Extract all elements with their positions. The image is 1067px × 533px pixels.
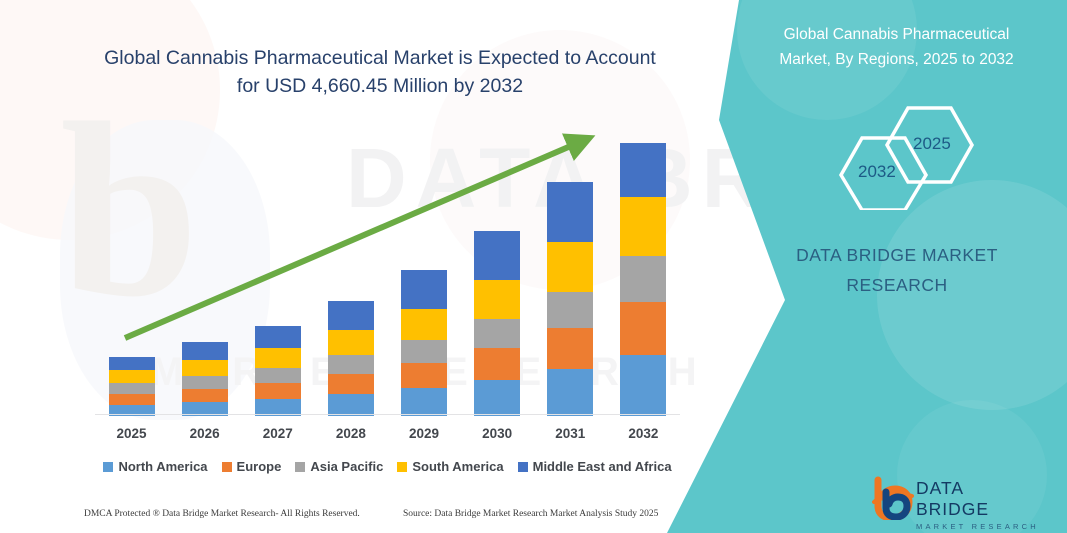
bar-segment-europe [182,389,228,402]
bar-segment-south-america [255,348,301,368]
bar-segment-middle-east-and-africa [109,357,155,370]
logo-mark-icon [872,476,914,520]
panel-brand-text: DATA BRIDGE MARKET RESEARCH [747,240,1047,300]
legend-swatch-icon [295,462,305,472]
bar-segment-middle-east-and-africa [328,301,374,330]
bar-segment-asia-pacific [109,383,155,394]
bar-segment-middle-east-and-africa [182,342,228,360]
x-axis-label-2031: 2031 [535,426,605,441]
bar-segment-north-america [328,394,374,416]
chart-title: Global Cannabis Pharmaceutical Market is… [60,44,700,100]
bar-2027 [255,326,301,416]
bar-2031 [547,182,593,416]
logo-sub-text: MARKET RESEARCH [916,522,1042,531]
logo-text-block: DATA BRIDGE MARKET RESEARCH [916,478,1042,531]
bar-segment-south-america [547,242,593,292]
bar-segment-asia-pacific [547,292,593,328]
chart-legend: North AmericaEuropeAsia PacificSouth Ame… [95,459,680,474]
bar-segment-europe [474,348,520,380]
hexagon-year-2025: 2025 [913,134,951,154]
hexagon-shapes [820,98,1020,210]
bar-segment-europe [620,302,666,355]
bar-2028 [328,301,374,416]
bar-segment-north-america [547,369,593,416]
bar-segment-middle-east-and-africa [620,143,666,197]
bar-segment-asia-pacific [474,319,520,348]
bar-segment-middle-east-and-africa [474,231,520,280]
bar-segment-europe [401,363,447,388]
legend-label: Middle East and Africa [533,459,672,474]
bar-segment-middle-east-and-africa [401,270,447,309]
bar-2032 [620,143,666,416]
bar-segment-europe [255,383,301,399]
x-axis-label-2032: 2032 [608,426,678,441]
bar-segment-south-america [328,330,374,355]
left-chart-panel: b DATA BRIDGE MARKET RESEARCH Global Can… [0,0,760,533]
legend-swatch-icon [397,462,407,472]
bar-segment-asia-pacific [182,376,228,389]
bar-segment-north-america [401,388,447,416]
bar-segment-europe [547,328,593,369]
bar-segment-south-america [401,309,447,340]
x-axis-labels: 20252026202720282029203020312032 [95,426,680,446]
bar-2029 [401,270,447,416]
bar-segment-south-america [109,370,155,383]
x-axis-label-2030: 2030 [462,426,532,441]
data-bridge-logo: DATA BRIDGE MARKET RESEARCH [872,476,1042,521]
legend-label: North America [118,459,207,474]
bar-segment-north-america [620,355,666,416]
bar-segment-south-america [474,280,520,319]
bar-segment-middle-east-and-africa [255,326,301,348]
legend-item-europe[interactable]: Europe [222,459,282,474]
x-axis-label-2027: 2027 [243,426,313,441]
bar-segment-asia-pacific [255,368,301,383]
bar-segment-asia-pacific [328,355,374,374]
panel-title-line-2: Market, By Regions, 2025 to 2032 [744,47,1049,72]
footer-source: Source: Data Bridge Market Research Mark… [403,509,658,519]
x-axis-label-2025: 2025 [97,426,167,441]
bar-segment-north-america [474,380,520,416]
bar-segment-asia-pacific [401,340,447,363]
bar-segment-south-america [620,197,666,256]
panel-brand-line-2: RESEARCH [747,270,1047,300]
legend-swatch-icon [222,462,232,472]
x-axis-label-2029: 2029 [389,426,459,441]
chart-title-line-2: for USD 4,660.45 Million by 2032 [60,72,700,100]
legend-label: Asia Pacific [310,459,383,474]
x-axis-label-2026: 2026 [170,426,240,441]
legend-label: Europe [237,459,282,474]
bar-segment-europe [328,374,374,394]
panel-title-line-1: Global Cannabis Pharmaceutical [744,22,1049,47]
bar-segment-asia-pacific [620,256,666,302]
legend-swatch-icon [518,462,528,472]
legend-item-asia-pacific[interactable]: Asia Pacific [295,459,383,474]
stacked-bar-chart [95,120,680,416]
chart-title-line-1: Global Cannabis Pharmaceutical Market is… [60,44,700,72]
x-axis-label-2028: 2028 [316,426,386,441]
bar-2030 [474,231,520,416]
legend-item-north-america[interactable]: North America [103,459,207,474]
legend-label: South America [412,459,503,474]
bar-segment-europe [109,394,155,405]
footer-copyright: DMCA Protected ® Data Bridge Market Rese… [84,509,360,519]
bar-2026 [182,342,228,416]
panel-title: Global Cannabis Pharmaceutical Market, B… [744,22,1049,72]
bar-segment-middle-east-and-africa [547,182,593,242]
bar-2025 [109,357,155,416]
chart-baseline [95,414,680,415]
hexagon-badges: 2025 2032 [820,98,1020,210]
legend-item-middle-east-and-africa[interactable]: Middle East and Africa [518,459,672,474]
hexagon-year-2032: 2032 [858,162,896,182]
legend-swatch-icon [103,462,113,472]
logo-main-text: DATA BRIDGE [916,478,1042,520]
panel-brand-line-1: DATA BRIDGE MARKET [747,240,1047,270]
bar-segment-south-america [182,360,228,376]
legend-item-south-america[interactable]: South America [397,459,503,474]
